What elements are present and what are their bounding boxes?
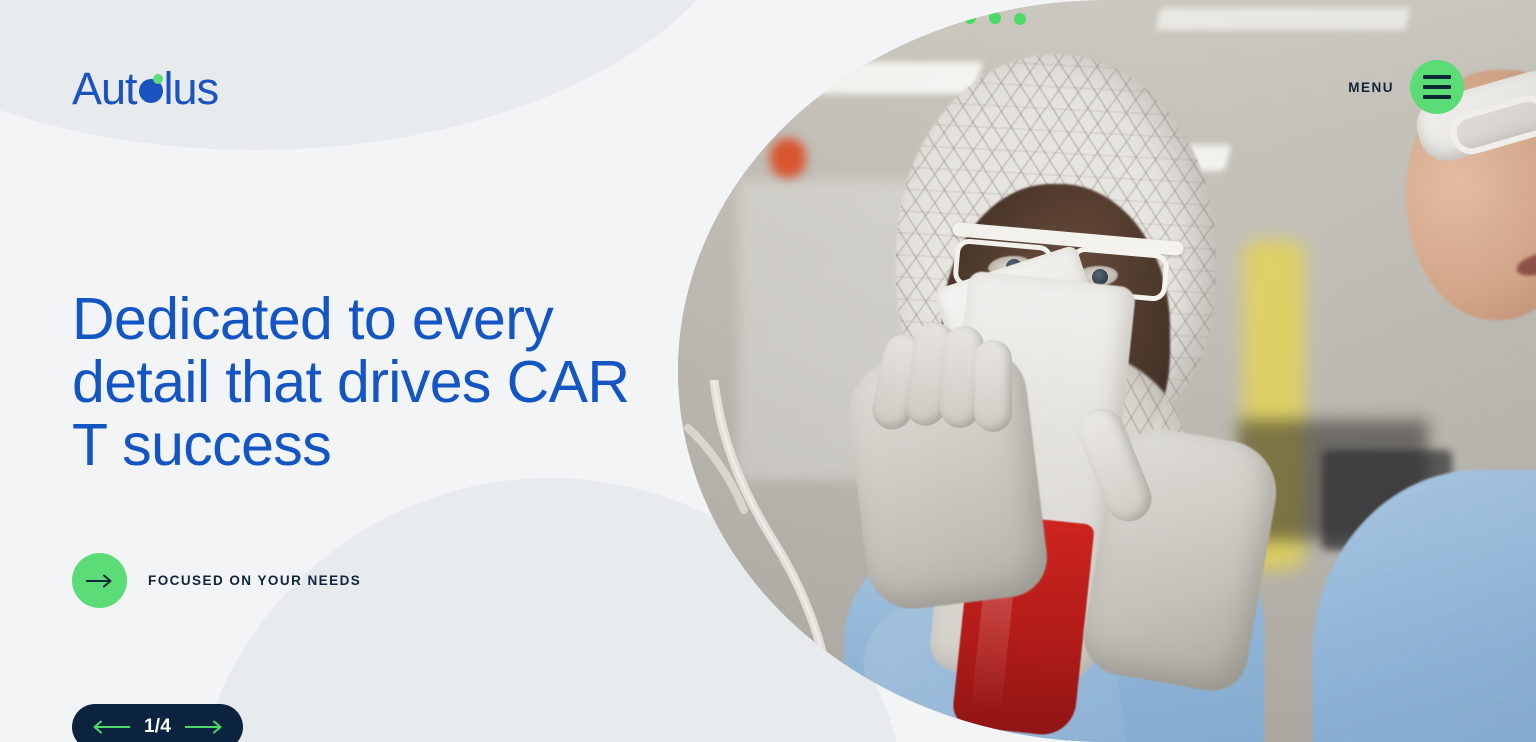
arrow-right-icon[interactable] <box>185 720 223 734</box>
hero-page: Aut lus Dedicated to every detail that d… <box>0 0 1536 742</box>
menu-button[interactable]: MENU <box>1348 60 1464 114</box>
hamburger-icon[interactable] <box>1410 60 1464 114</box>
background-red-object <box>770 138 806 178</box>
arrow-right-icon[interactable] <box>72 553 127 608</box>
menu-label: MENU <box>1348 80 1394 95</box>
page-title: Dedicated to every detail that drives CA… <box>72 288 652 477</box>
logo-text-part2: lus <box>164 66 219 111</box>
iv-tubing <box>678 380 978 742</box>
brand-logo[interactable]: Aut lus <box>72 66 218 111</box>
finger <box>974 340 1012 432</box>
arrow-left-icon[interactable] <box>92 720 130 734</box>
carousel-counter: 1/4 <box>144 716 171 738</box>
hero-content-column: Aut lus Dedicated to every detail that d… <box>0 0 720 742</box>
carousel-controls[interactable]: 1/4 <box>72 704 243 742</box>
hero-cta-link[interactable]: FOCUSED ON YOUR NEEDS <box>72 553 361 608</box>
second-person <box>1362 70 1536 742</box>
autolus-o-mark-icon <box>138 78 163 103</box>
hero-cta-label: FOCUSED ON YOUR NEEDS <box>148 573 361 588</box>
ceiling-light <box>1156 8 1411 30</box>
logo-text-part1: Aut <box>72 66 137 111</box>
